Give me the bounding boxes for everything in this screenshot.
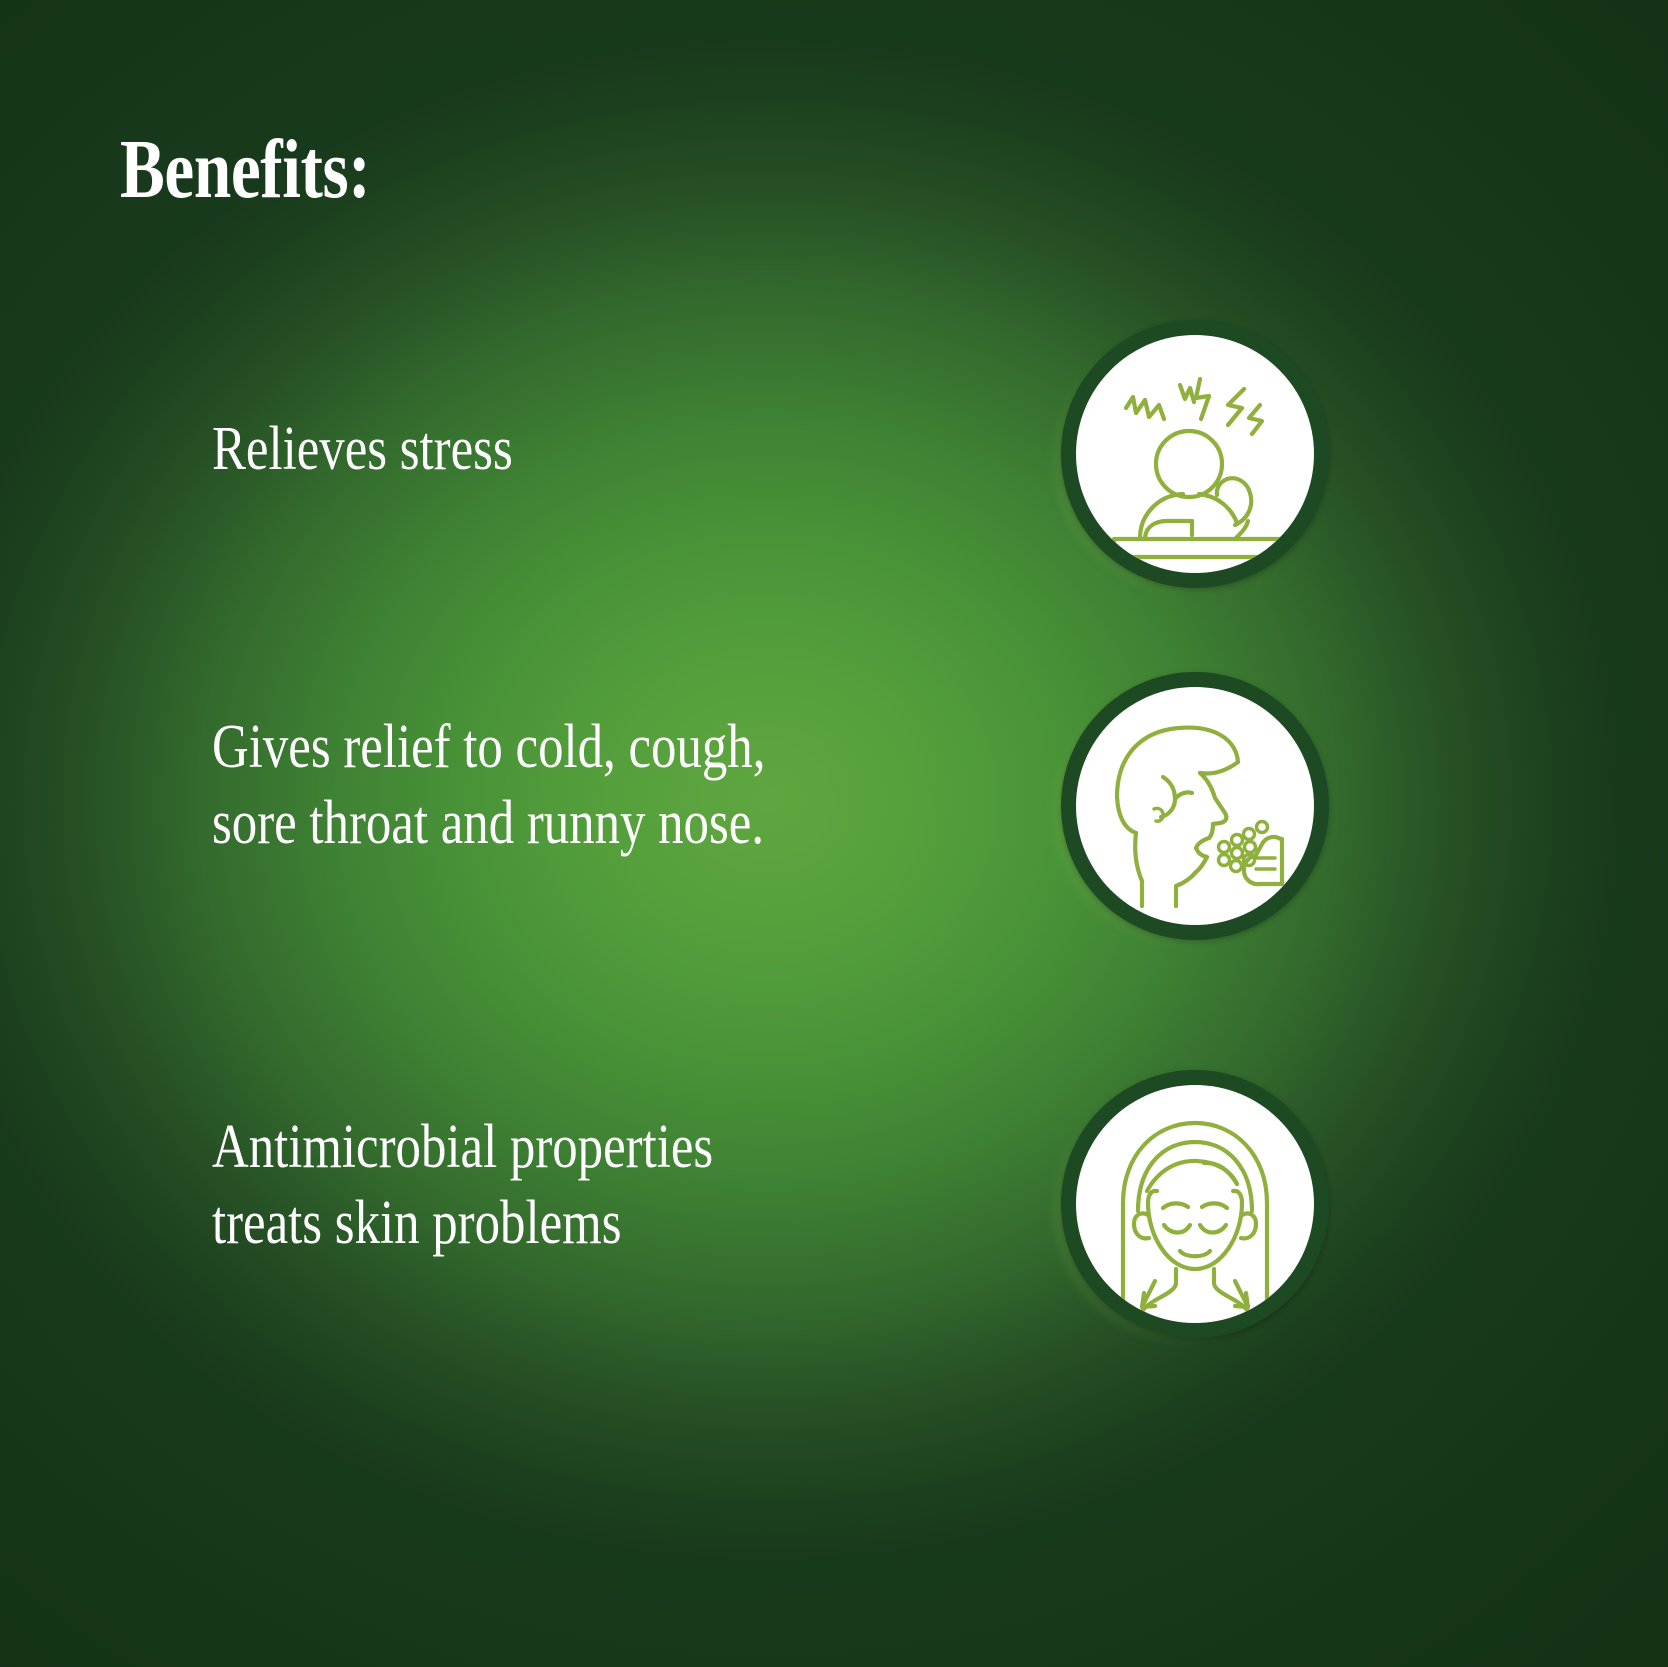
benefit-label: Relieves stress bbox=[212, 412, 1032, 488]
stressed-person-icon bbox=[1076, 335, 1314, 573]
benefit-item: Antimicrobial properties treats skin pro… bbox=[0, 1070, 1668, 1320]
benefit-label: Gives relief to cold, cough, sore throat… bbox=[212, 710, 1032, 861]
coughing-person-icon bbox=[1076, 687, 1314, 925]
benefits-poster: Benefits: Relieves stress bbox=[0, 0, 1668, 1667]
benefit-icon-badge bbox=[1061, 320, 1329, 588]
benefit-item: Gives relief to cold, cough, sore throat… bbox=[0, 680, 1668, 930]
benefit-icon-badge bbox=[1061, 672, 1329, 940]
glowing-face-icon bbox=[1076, 1085, 1314, 1323]
benefit-item: Relieves stress bbox=[0, 330, 1668, 570]
benefit-icon-badge bbox=[1061, 1070, 1329, 1338]
page-title: Benefits: bbox=[120, 128, 370, 212]
benefit-label: Antimicrobial properties treats skin pro… bbox=[212, 1110, 1032, 1261]
